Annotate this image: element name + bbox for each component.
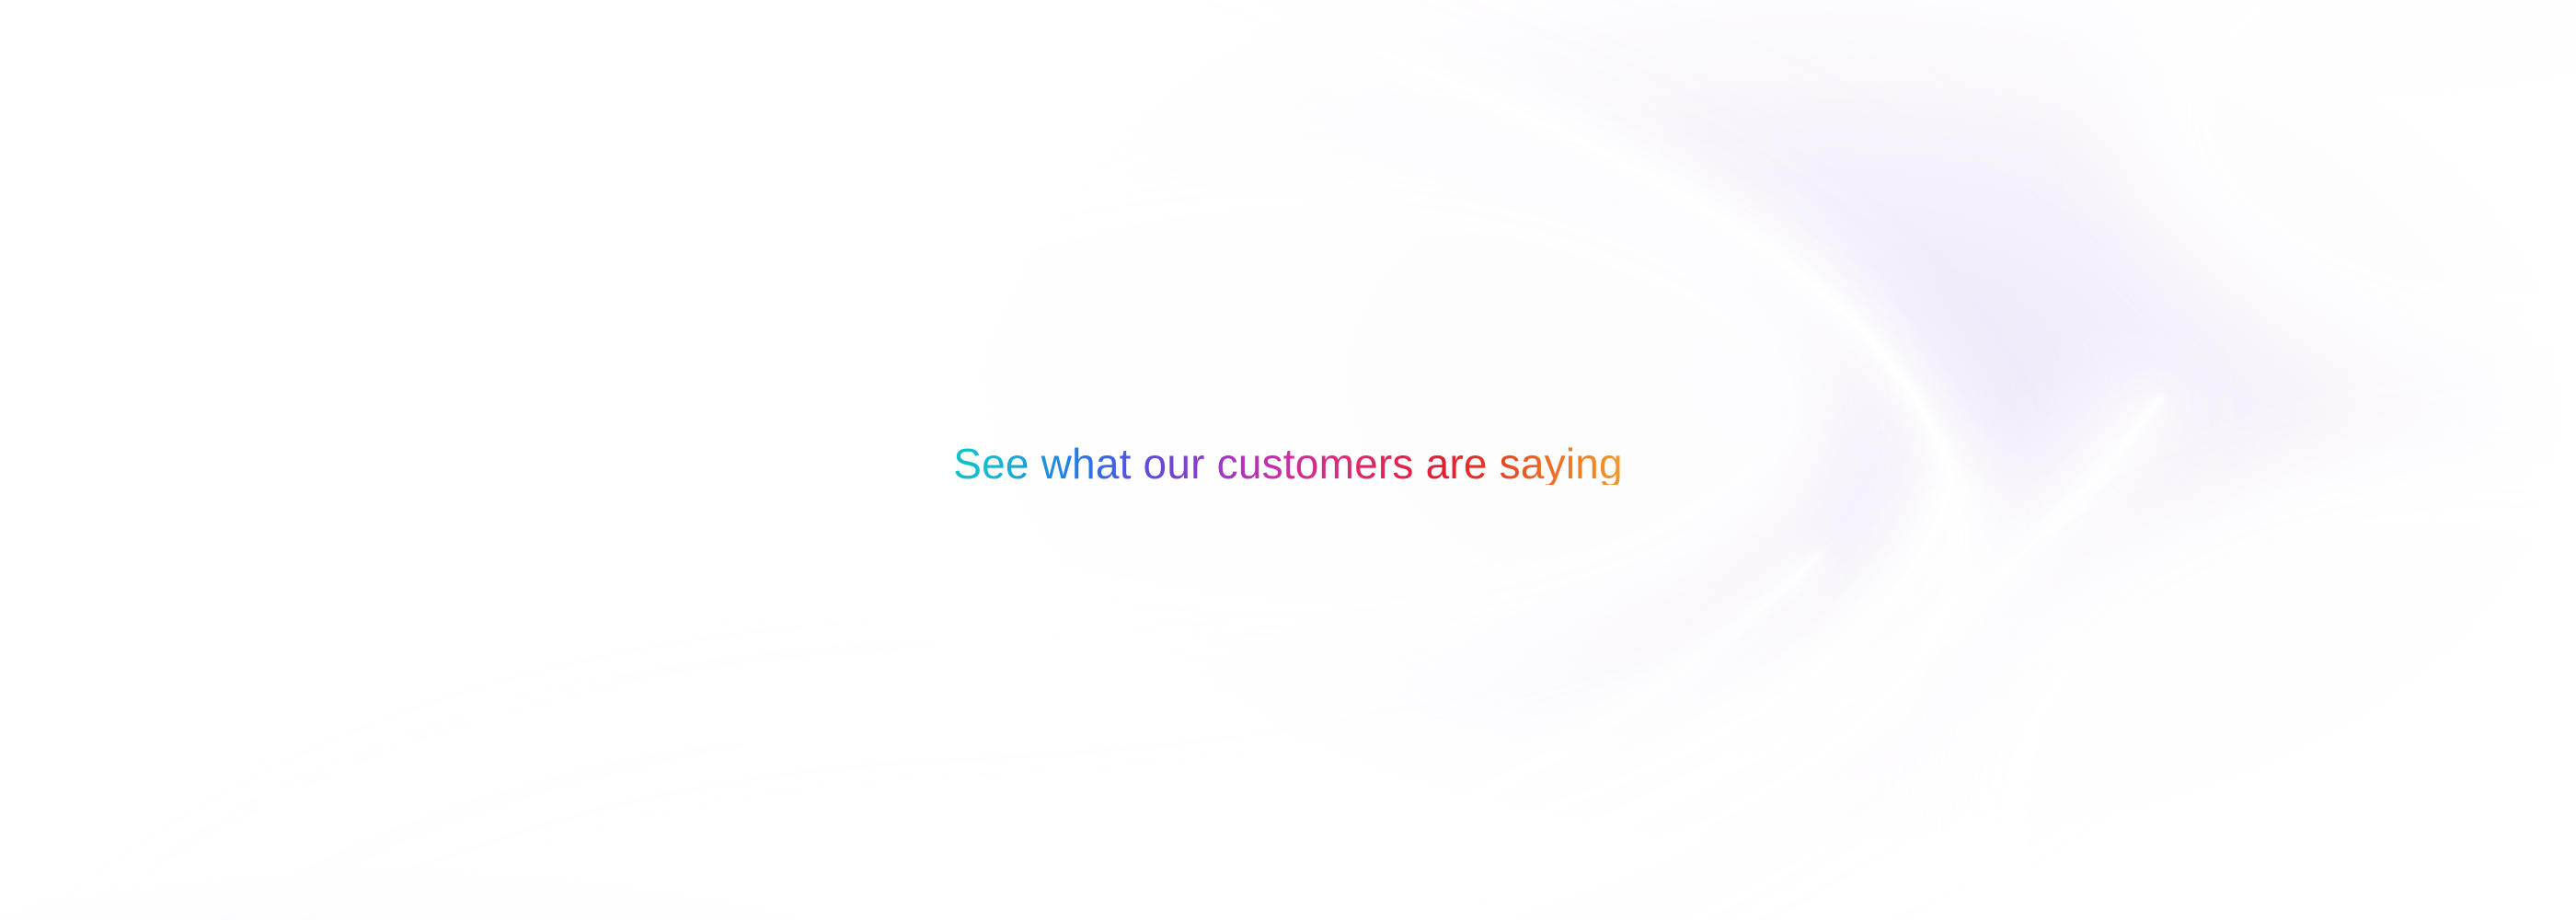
ribbon-echo-arcs-right: [1141, 0, 2242, 920]
ribbon-arc-lower: [331, 478, 1952, 920]
ribbon-filament-bottom: [276, 552, 1822, 920]
hero-section: See what our customers are saying: [0, 0, 2576, 920]
light-ribbon-swoosh-icon: [0, 0, 2576, 920]
ribbon-arc-bottom-left: [221, 396, 2162, 920]
headline-container: See what our customers are saying: [0, 0, 2576, 920]
ribbon-arc-upper: [1086, 0, 1961, 920]
page-title: See what our customers are saying: [953, 443, 1623, 485]
ribbon-echo-arcs-left: [0, 432, 1923, 920]
ribbon-glow-wash: [0, 0, 2576, 920]
corner-whiteners: [0, 0, 2576, 920]
